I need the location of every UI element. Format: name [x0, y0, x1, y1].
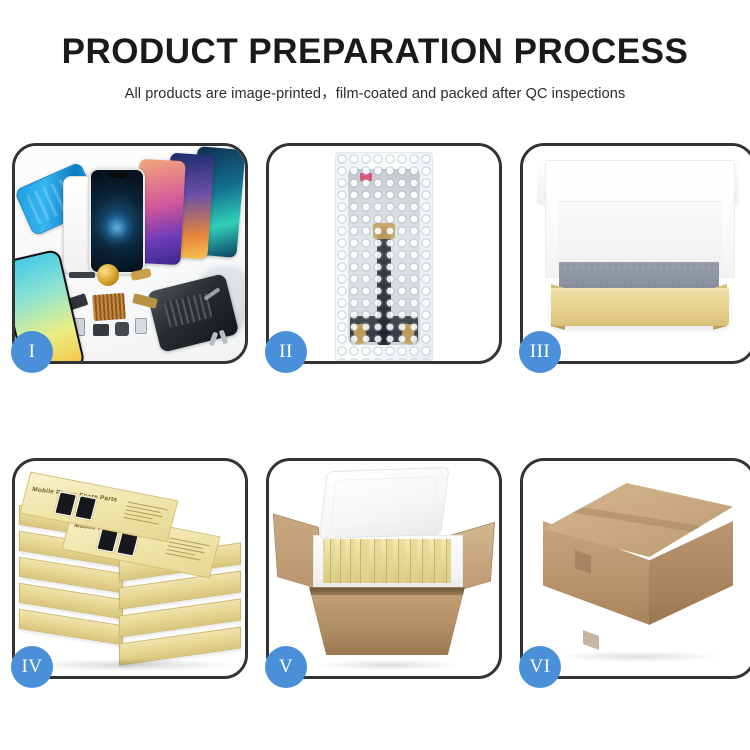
carton-shadow [319, 660, 459, 670]
process-step-card-3[interactable]: III [520, 143, 750, 364]
step-5-photo [269, 461, 499, 676]
step-badge-4: IV [11, 646, 53, 688]
process-step-card-1[interactable]: I [12, 143, 248, 364]
kraft-tray-graphic [551, 292, 729, 326]
spare-part-graphic [93, 324, 109, 336]
header: PRODUCT PREPARATION PROCESS All products… [0, 0, 750, 103]
box-stack-graphic: Mobile Phone Spare Parts Mobile Phone Sp… [19, 477, 243, 669]
step-2-photo [269, 146, 499, 361]
dark-phone-graphic [89, 168, 145, 274]
step-badge-2: II [265, 331, 307, 373]
step-badge-5: V [265, 646, 307, 688]
step-1-photo [15, 146, 245, 361]
qc-sticker-graphic [360, 173, 372, 181]
carton-body-graphic [309, 587, 465, 655]
chip-part-graphic [92, 293, 126, 321]
spare-part-graphic [115, 322, 129, 336]
connector-graphic [373, 223, 395, 239]
step-4-photo: Mobile Phone Spare Parts Mobile Phone Sp… [15, 461, 245, 676]
step-3-photo [523, 146, 750, 361]
process-step-card-5[interactable]: V [266, 458, 502, 679]
process-step-card-4[interactable]: Mobile Phone Spare Parts Mobile Phone Sp… [12, 458, 248, 679]
gold-coil-part-graphic [97, 264, 119, 286]
styrofoam-lid-graphic [319, 467, 450, 539]
inner-boxes-graphic [323, 539, 451, 583]
step-badge-1: I [11, 331, 53, 373]
step-badge-3: III [519, 331, 561, 373]
step-badge-6: VI [519, 646, 561, 688]
page-title: PRODUCT PREPARATION PROCESS [0, 34, 750, 71]
page-subtitle: All products are image-printed，film-coat… [0, 82, 750, 103]
carton-tape-tab [583, 630, 599, 650]
white-lid-graphic [545, 160, 735, 278]
screen-thumbnail [74, 495, 97, 520]
process-step-card-2[interactable]: II [266, 143, 502, 364]
product-preparation-infographic: PRODUCT PREPARATION PROCESS All products… [0, 0, 750, 750]
spare-part-graphic [135, 318, 147, 334]
stack-shadow [27, 659, 237, 671]
spare-part-graphic [69, 272, 95, 278]
bubble-wrap-graphic [335, 152, 433, 361]
box-label-specs [123, 502, 168, 529]
process-step-card-6[interactable]: VI [520, 458, 750, 679]
box-label-specs [165, 538, 210, 565]
carton-shadow [557, 651, 719, 662]
process-step-grid: I II [12, 143, 738, 679]
step-6-photo [523, 461, 750, 676]
